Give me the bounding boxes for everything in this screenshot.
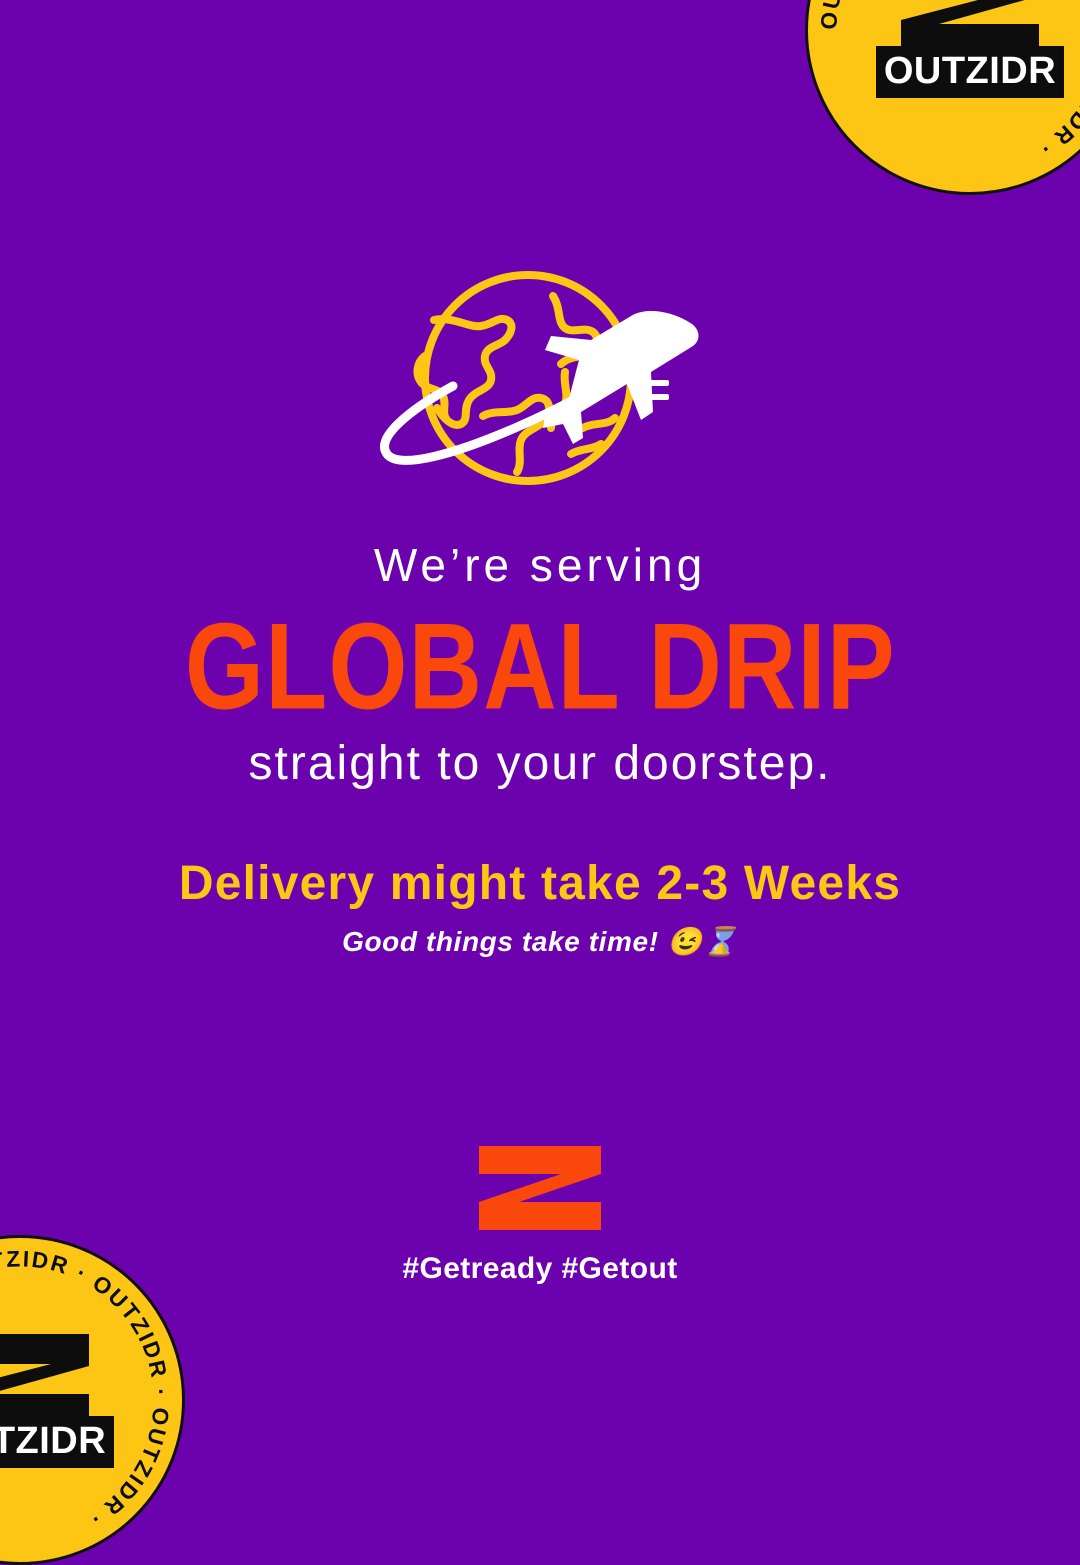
poster-stage: We’re serving GLOBAL DRIP straight to yo… [0,0,1080,1440]
globe-with-airplane-icon [365,268,715,498]
hashtags-text: #Getready #Getout [402,1254,677,1284]
outzidr-z-logo [479,1146,601,1230]
reassurance-text: Good things take time! 😉⌛ [342,928,738,956]
subline-text: straight to your doorstep. [249,740,832,788]
delivery-note-text: Delivery might take 2-3 Weeks [179,860,901,908]
headline-text: GLOBAL DRIP [185,606,896,729]
eyebrow-text: We’re serving [374,542,706,588]
